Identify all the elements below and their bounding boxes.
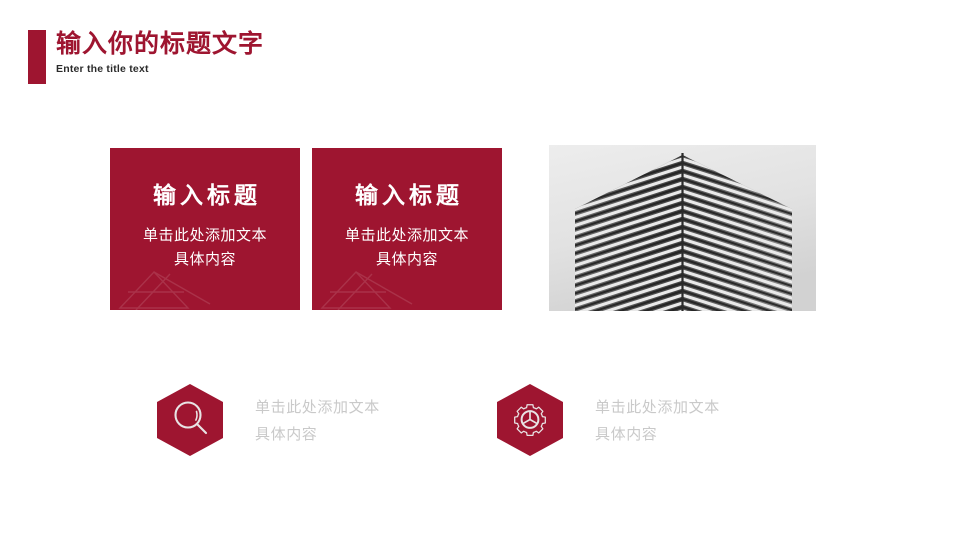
slide-header: 输入你的标题文字 Enter the title text <box>28 28 528 90</box>
card-2-body-line-2: 具体内容 <box>312 248 502 272</box>
hexagon-badge <box>155 383 225 457</box>
feature-1-line-1: 单击此处添加文本 <box>255 394 380 421</box>
feature-item-2[interactable]: 单击此处添加文本 具体内容 <box>495 383 825 457</box>
feature-2-text: 单击此处添加文本 具体内容 <box>595 394 720 448</box>
hexagon-badge <box>495 383 565 457</box>
card-2-body: 单击此处添加文本 具体内容 <box>312 224 502 272</box>
card-1-heading: 输入标题 <box>110 180 300 210</box>
feature-2-line-2: 具体内容 <box>595 421 720 448</box>
feature-2-line-1: 单击此处添加文本 <box>595 394 720 421</box>
card-1-body-line-2: 具体内容 <box>110 248 300 272</box>
content-card-1[interactable]: 输入标题 单击此处添加文本 具体内容 <box>110 148 300 310</box>
title-block: 输入你的标题文字 Enter the title text <box>56 28 516 76</box>
content-card-2[interactable]: 输入标题 单击此处添加文本 具体内容 <box>312 148 502 310</box>
page-title: 输入你的标题文字 <box>56 28 516 60</box>
card-1-body: 单击此处添加文本 具体内容 <box>110 224 300 272</box>
building-photo-image <box>549 145 816 311</box>
slide-canvas: 输入你的标题文字 Enter the title text 输入标题 单击此处添… <box>0 0 960 548</box>
feature-1-text: 单击此处添加文本 具体内容 <box>255 394 380 448</box>
page-subtitle: Enter the title text <box>56 63 516 76</box>
card-2-heading: 输入标题 <box>312 180 502 210</box>
building-photo[interactable] <box>549 145 816 311</box>
feature-1-line-2: 具体内容 <box>255 421 380 448</box>
card-1-body-line-1: 单击此处添加文本 <box>110 224 300 248</box>
card-2-body-line-1: 单击此处添加文本 <box>312 224 502 248</box>
feature-item-1[interactable]: 单击此处添加文本 具体内容 <box>155 383 485 457</box>
title-accent-bar <box>28 30 46 84</box>
